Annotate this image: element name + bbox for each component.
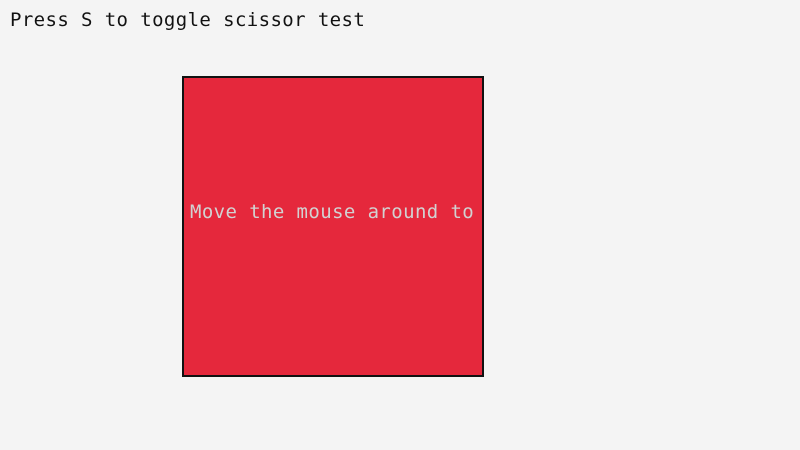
scissor-toggle-instruction: Press S to toggle scissor test — [10, 9, 365, 31]
hud-overlay: Press S to toggle scissor test — [10, 6, 770, 34]
scissor-rectangle[interactable]: Move the mouse around to r — [182, 76, 484, 377]
demo-canvas[interactable]: Press S to toggle scissor test Move the … — [0, 0, 800, 450]
scissor-clipped-label: Move the mouse around to r — [190, 201, 484, 223]
